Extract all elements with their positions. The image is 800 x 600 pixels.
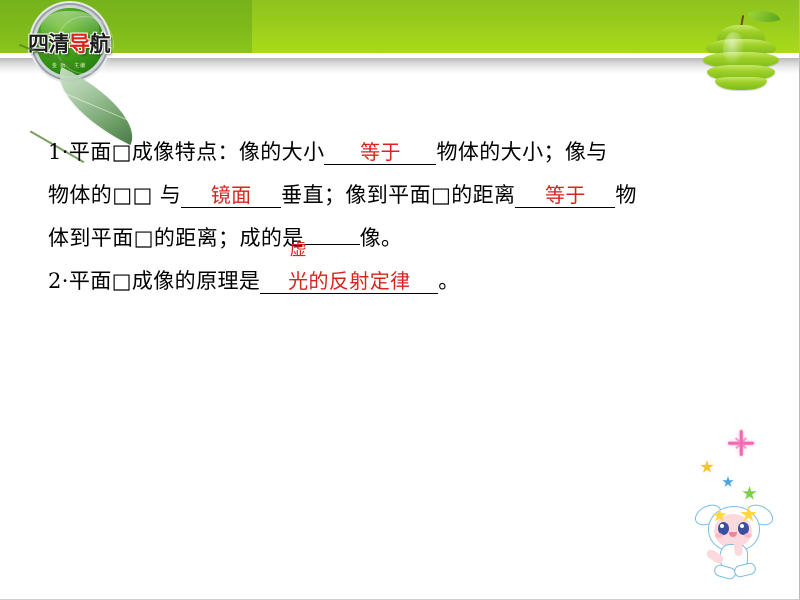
mascot-decoration: [686, 424, 786, 584]
question-text: 物: [615, 183, 636, 207]
star-icon: [700, 460, 714, 474]
question-line: 2·平面□成像的原理是光的反射定律。: [48, 260, 754, 303]
header-drop-shadow: [0, 58, 800, 74]
answer-blank[interactable]: 等于: [515, 184, 615, 208]
apple-slice: [715, 77, 767, 90]
question-number: 2: [48, 269, 62, 293]
question-number-dot: ·: [62, 140, 69, 164]
answer-text: 虚: [290, 241, 307, 261]
slide-canvas: 四清导航 金 牌 · 主编 1·平面□成像特点：像的大小等于物体的大小；像与物体…: [0, 0, 800, 600]
question-list: 1·平面□成像特点：像的大小等于物体的大小；像与物体的□□ 与镜面垂直；像到平面…: [48, 131, 754, 303]
question-line: 体到平面□的距离；成的是虚像。: [48, 217, 754, 260]
question-number: 1: [48, 140, 62, 164]
logo-text-part-2: 导: [69, 32, 90, 56]
question-number-dot: ·: [62, 269, 69, 293]
answer-blank[interactable]: 虚: [304, 244, 360, 245]
answer-blank[interactable]: 等于: [324, 141, 436, 165]
mascot-character-icon: [692, 500, 784, 584]
answer-text: 等于: [360, 140, 401, 164]
answer-blank[interactable]: 镜面: [181, 184, 281, 208]
apple-leaf-icon: [748, 6, 781, 28]
apple-highlight: [723, 32, 745, 66]
mascot-cheek-right: [744, 533, 752, 538]
question-text: 。: [438, 269, 459, 293]
question-line: 物体的□□ 与镜面垂直；像到平面□的距离等于物: [48, 174, 754, 217]
answer-text: 镜面: [211, 183, 252, 207]
mascot-cheek-left: [715, 533, 723, 538]
question-text: 物体的大小；像与: [436, 140, 607, 164]
star-icon: [742, 486, 757, 501]
apple-icon: [693, 8, 781, 88]
question-text: 平面□成像特点：像的大小: [69, 140, 325, 164]
answer-blank[interactable]: 光的反射定律: [260, 270, 438, 294]
answer-text: 光的反射定律: [288, 269, 410, 293]
question-text: 平面□成像的原理是: [69, 269, 260, 293]
question-text: 像。: [360, 226, 403, 250]
answer-text: 等于: [545, 183, 586, 207]
sparkle-icon: [728, 430, 754, 456]
logo-text-part-3: 航: [90, 32, 111, 56]
question-line: 1·平面□成像特点：像的大小等于物体的大小；像与: [48, 131, 754, 174]
question-text: 垂直；像到平面□的距离: [281, 183, 515, 207]
star-icon: [722, 476, 734, 488]
question-text: 体到平面□的距离；成的是: [48, 226, 304, 250]
question-text: 物体的□□ 与: [48, 183, 181, 207]
